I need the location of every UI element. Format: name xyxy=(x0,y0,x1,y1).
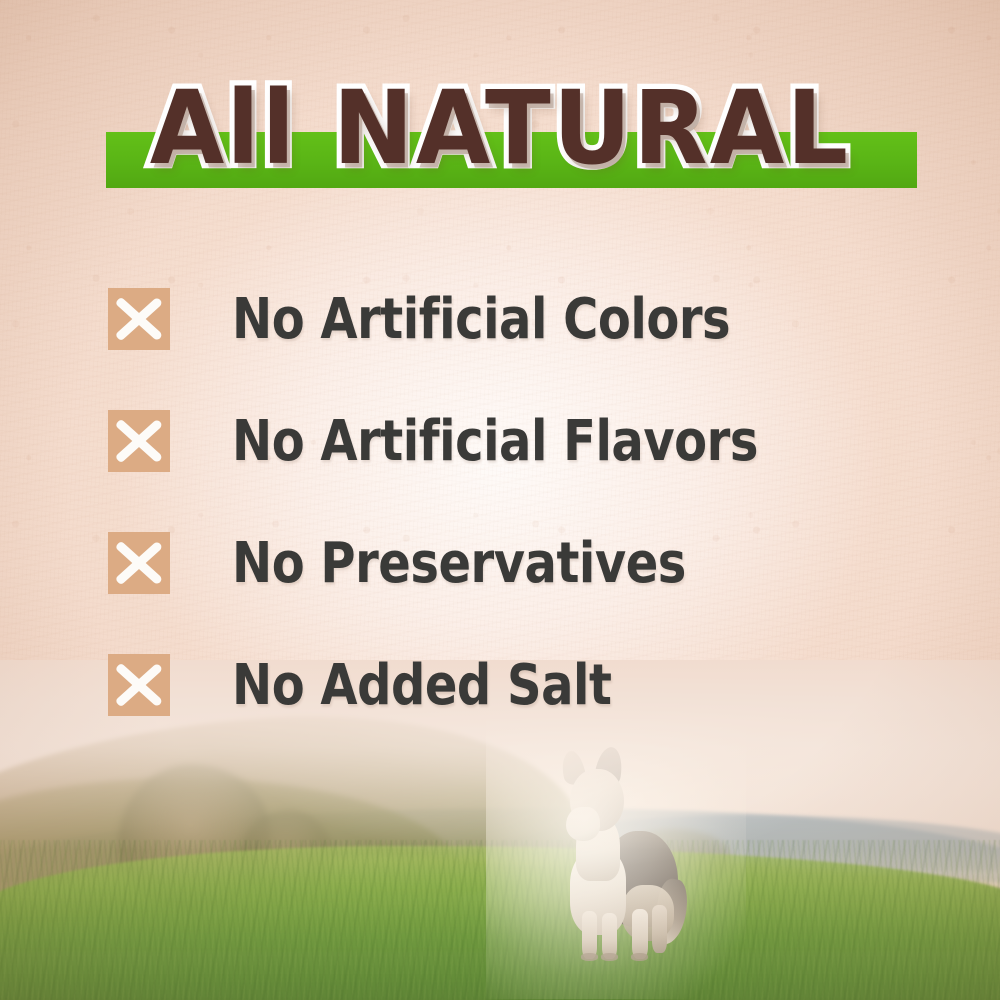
list-item: No Artificial Flavors xyxy=(108,380,928,502)
list-item: No Artificial Colors xyxy=(108,258,928,380)
claim-label: No Added Salt xyxy=(232,653,611,718)
list-item: No Preservatives xyxy=(108,502,928,624)
claim-label: No Artificial Flavors xyxy=(232,409,758,474)
claim-label: No Artificial Colors xyxy=(232,287,730,352)
x-mark-icon xyxy=(108,410,170,472)
page-title: All NATURAL xyxy=(0,78,1000,179)
claim-label: No Preservatives xyxy=(232,531,686,596)
x-mark-icon xyxy=(108,654,170,716)
border-collie-dog xyxy=(536,753,696,958)
dog-front-leg-left xyxy=(582,911,597,959)
x-mark-icon xyxy=(108,288,170,350)
dog-paw-front-right xyxy=(601,953,618,961)
dog-muzzle xyxy=(566,807,600,841)
list-item: No Added Salt xyxy=(108,624,928,746)
grass-texture xyxy=(0,840,1000,1000)
x-mark-icon xyxy=(108,532,170,594)
dog-back-leg-right xyxy=(652,905,667,953)
dog-paw-back-left xyxy=(631,953,648,961)
dog-paw-front-left xyxy=(581,953,598,961)
dog-back-leg-left xyxy=(632,909,648,959)
claims-list: No Artificial Colors No Artificial Flavo… xyxy=(108,258,928,746)
product-feature-poster: All NATURAL No Artificial Colors No Arti… xyxy=(0,0,1000,1000)
